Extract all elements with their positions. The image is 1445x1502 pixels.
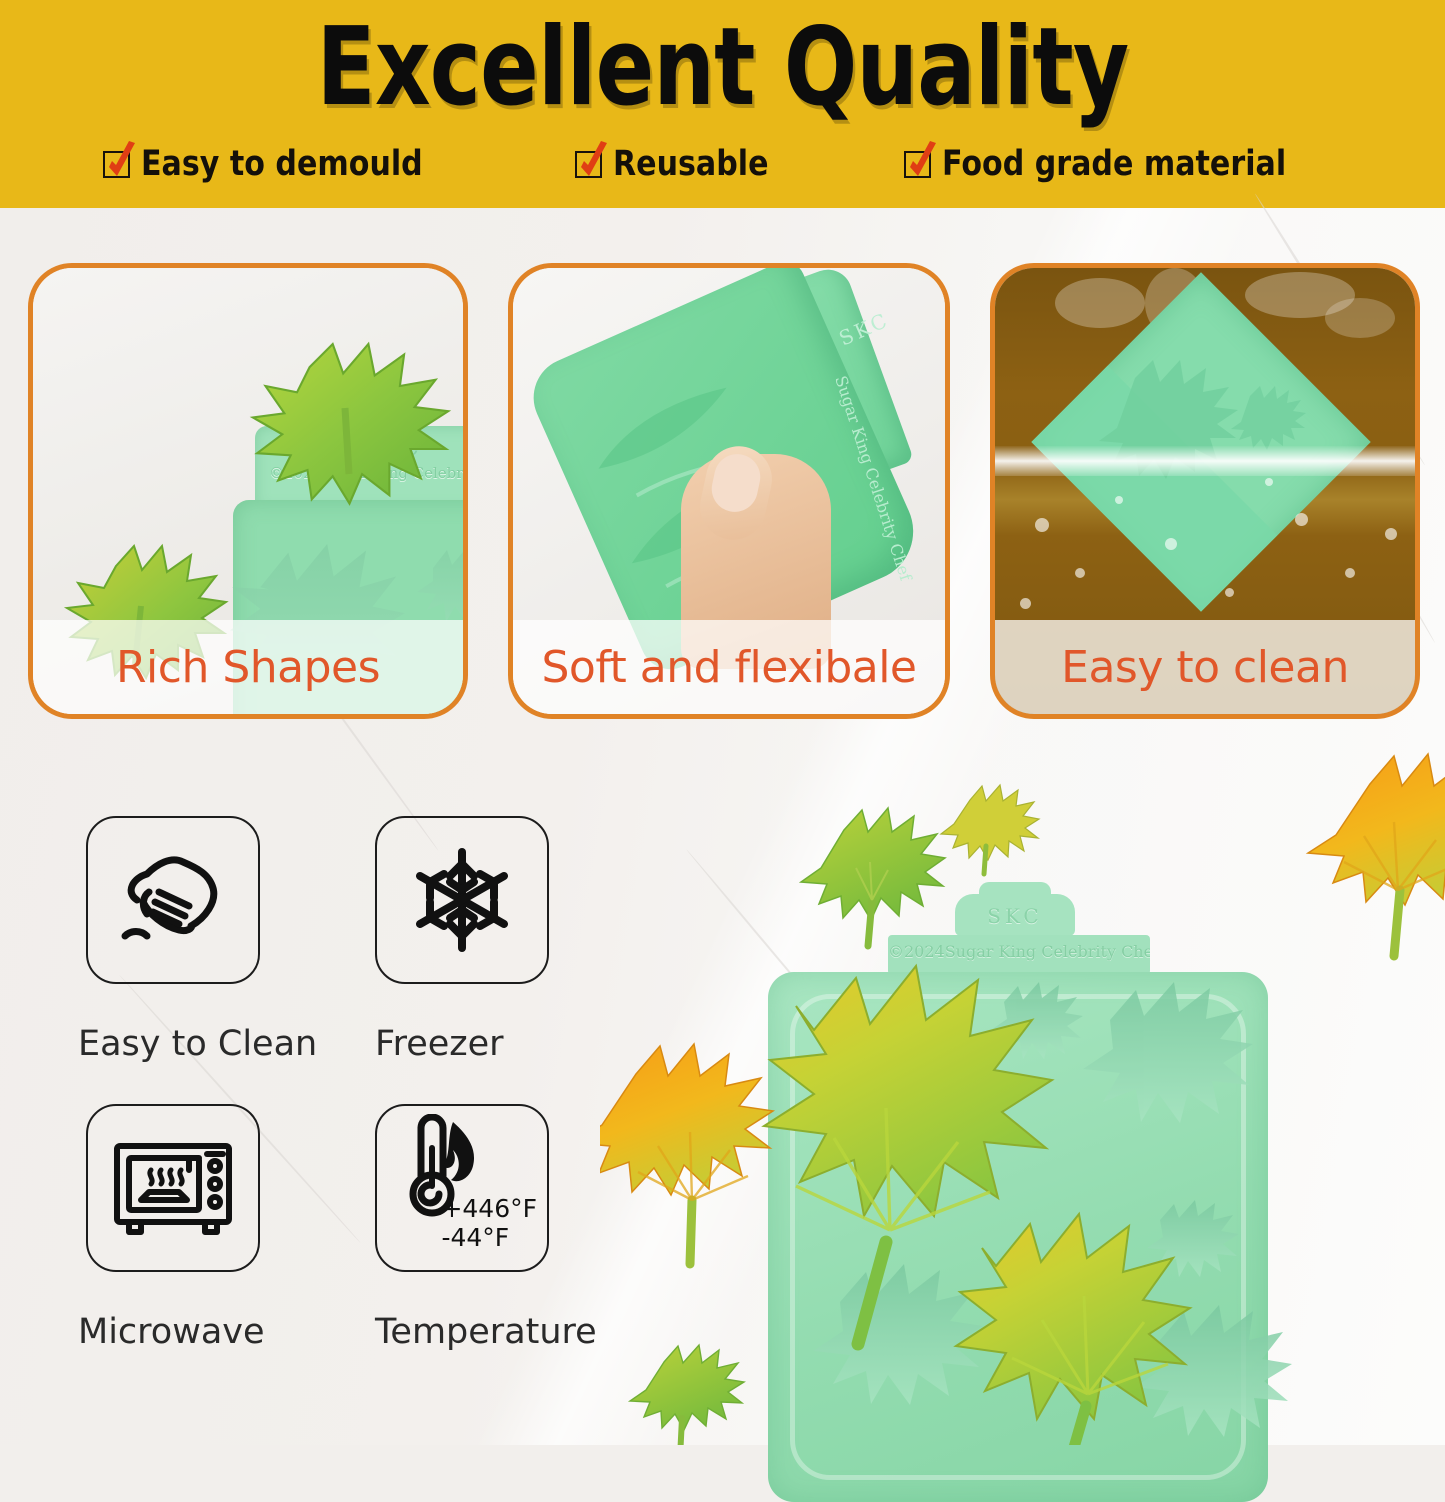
checkbox-checked-icon	[103, 151, 130, 178]
svg-text:Sugar King Celebrity Chef: Sugar King Celebrity Chef	[831, 373, 916, 584]
temperature-readout: +446°F -44°F	[441, 1194, 537, 1252]
card-caption: Rich Shapes	[33, 620, 463, 714]
thermometer-flame-icon: +446°F -44°F	[375, 1104, 549, 1272]
hand-wiping-cloth-icon	[86, 816, 260, 984]
check-label: Reusable	[613, 147, 769, 182]
leaf-green-small-top	[801, 808, 945, 946]
snowflake-icon	[375, 816, 549, 984]
card-caption: Easy to clean	[995, 620, 1415, 714]
icon-feature-temperature: +446°F -44°F Temperature	[375, 1104, 597, 1352]
icon-feature-grid: Easy to Clean Freezer	[86, 816, 586, 1381]
icon-label: Microwave	[78, 1312, 265, 1352]
temperature-max: +446°F	[441, 1194, 537, 1223]
icon-feature-freezer: Freezer	[375, 816, 549, 1064]
leaf-green-small-left	[630, 1345, 744, 1445]
check-item-reusable: Reusable	[575, 147, 794, 182]
microwave-oven-icon	[86, 1104, 260, 1272]
icon-feature-microwave: Microwave	[86, 1104, 265, 1352]
feature-card-row: SKC ©2024Sugar King Celebrity Chef	[0, 263, 1445, 719]
checkbox-checked-icon	[904, 151, 931, 178]
feature-check-list: Easy to demould Reusable Food grade mate…	[0, 138, 1445, 190]
check-item-easy-to-demould: Easy to demould	[103, 147, 469, 182]
leaf-green-tiny-top	[941, 785, 1039, 874]
check-label: Easy to demould	[141, 147, 423, 182]
page-title: Excellent Quality	[145, 14, 1301, 122]
temperature-min: -44°F	[441, 1223, 537, 1252]
leaf-orange-large-top	[1308, 754, 1445, 956]
header-banner: Excellent Quality Easy to demould Reusab…	[0, 0, 1445, 208]
icon-label: Freezer	[375, 1024, 549, 1064]
icon-label: Temperature	[375, 1312, 597, 1352]
card-caption: Soft and flexibale	[513, 620, 945, 714]
check-item-food-grade-material: Food grade material	[904, 147, 1342, 182]
icon-label: Easy to Clean	[78, 1024, 317, 1064]
icon-feature-easy-to-clean: Easy to Clean	[86, 816, 317, 1064]
product-hero-photo: SKC ©2024Sugar King Celebrity Chef	[600, 730, 1445, 1445]
feature-card-soft-and-flexible[interactable]: Sugar King Celebrity Chef SKC Soft and f…	[508, 263, 950, 719]
check-label: Food grade material	[942, 147, 1286, 182]
leaf-orange-large-left	[600, 1044, 773, 1264]
checkbox-checked-icon	[575, 151, 602, 178]
feature-card-rich-shapes[interactable]: SKC ©2024Sugar King Celebrity Chef	[28, 263, 468, 719]
svg-text:SKC: SKC	[835, 307, 893, 350]
feature-card-easy-to-clean[interactable]: Easy to clean	[990, 263, 1420, 719]
